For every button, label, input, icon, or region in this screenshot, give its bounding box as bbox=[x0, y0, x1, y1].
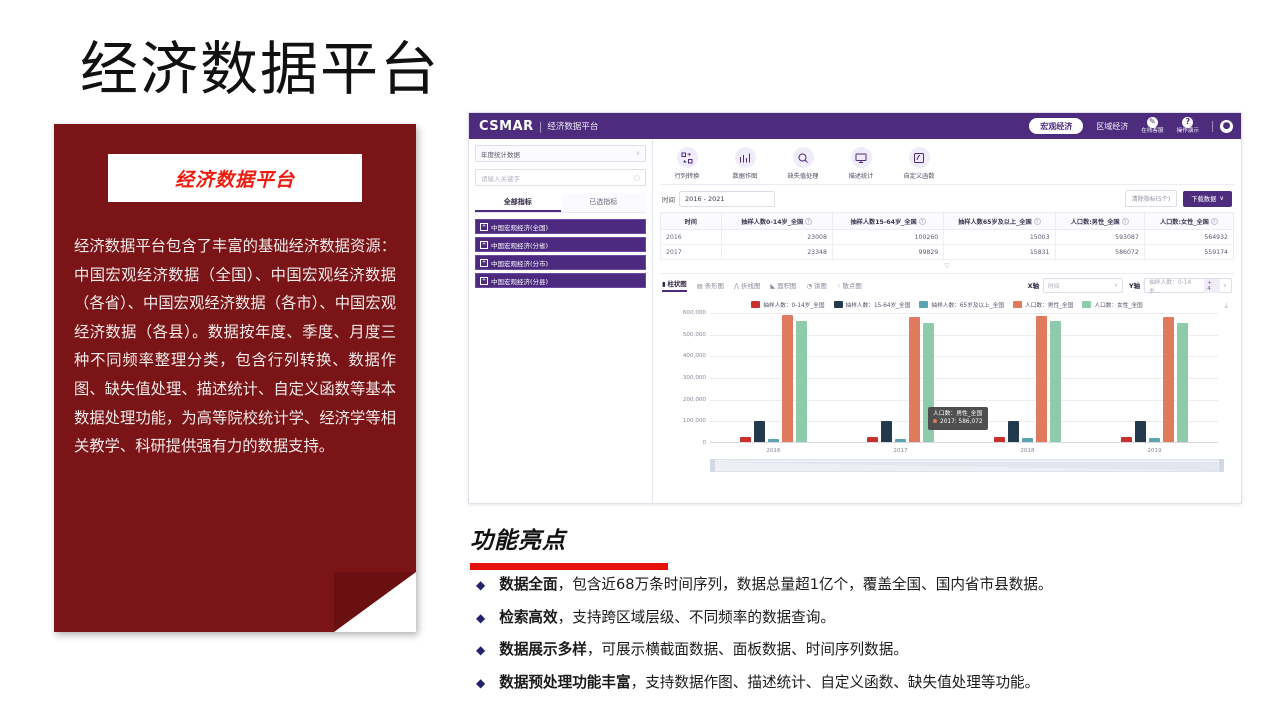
x-tick: 2016 bbox=[710, 448, 837, 454]
legend-label: 人口数：男性_全国 bbox=[1025, 300, 1073, 309]
bar[interactable] bbox=[740, 437, 751, 442]
col-label: 抽样人数15-64岁_全国 bbox=[850, 219, 916, 226]
col-sample-15-64[interactable]: 抽样人数15-64岁_全国? bbox=[832, 213, 943, 230]
y-tick: 400,000 bbox=[666, 353, 706, 359]
tooltip-value: 2017: 586,072 bbox=[940, 419, 983, 425]
tab-all-indicators[interactable]: 全部指标 bbox=[475, 193, 561, 212]
bar-chart-plot: 0 100,000 200,000 300,000 400,000 500,00… bbox=[666, 311, 1224, 443]
brand-logo: CSMAR bbox=[479, 119, 534, 134]
legend-swatch bbox=[834, 301, 843, 308]
demo-icon: ? bbox=[1182, 117, 1193, 128]
chart-datazoom-slider[interactable] bbox=[710, 459, 1224, 472]
help-icon[interactable]: ? bbox=[805, 218, 812, 225]
chevron-down-icon: ∨ bbox=[1219, 195, 1224, 202]
y-tick: 300,000 bbox=[666, 375, 706, 381]
app-window: CSMAR | 经济数据平台 宏观经济 区域经济 ✎ 在线客服 ? 操作演示 ●… bbox=[468, 112, 1242, 504]
chart-icon bbox=[735, 147, 756, 168]
legend-item[interactable]: 抽样人数：15-64岁_全国 bbox=[834, 300, 911, 309]
bar[interactable] bbox=[867, 437, 878, 442]
legend-label: 抽样人数：15-64岁_全国 bbox=[846, 300, 911, 309]
area-chart-icon: ◣ bbox=[770, 282, 775, 290]
table-row: 2017 23348 99829 15831 586072 559174 bbox=[661, 245, 1234, 260]
feature-strong: 数据全面 bbox=[499, 576, 557, 593]
col-label: 人口数:男性_全国 bbox=[1071, 219, 1120, 226]
cell: 15003 bbox=[944, 230, 1055, 245]
bar[interactable] bbox=[1177, 323, 1188, 442]
expand-icon: + bbox=[480, 241, 488, 249]
nav-regional-economy[interactable]: 区域经济 bbox=[1096, 121, 1128, 132]
col-label: 人口数:女性_全国 bbox=[1160, 219, 1209, 226]
tab-label: 饼图 bbox=[814, 281, 827, 290]
content-area: 行列转换 数据作图 bbox=[653, 139, 1241, 503]
col-label: 抽样人数65岁及以上_全国 bbox=[958, 219, 1032, 226]
bar[interactable] bbox=[1036, 316, 1047, 442]
tree-item-label: 中国宏观经济(分省) bbox=[491, 240, 548, 250]
feature-text: 数据展示多样，可展示横截面数据、面板数据、时间序列数据。 bbox=[499, 641, 908, 659]
tab-bar-chart[interactable]: ▮柱状图 bbox=[662, 279, 687, 292]
feature-item: ◆数据展示多样，可展示横截面数据、面板数据、时间序列数据。 bbox=[476, 641, 1136, 659]
frequency-select-value: 年度统计数据 bbox=[481, 149, 520, 159]
help-icon[interactable]: ? bbox=[1122, 218, 1129, 225]
bullet-diamond-icon: ◆ bbox=[476, 677, 485, 689]
tab-label: 散点图 bbox=[843, 281, 862, 290]
expand-icon: + bbox=[480, 259, 488, 267]
filter-bar: 时间 2016 - 2021 清除指标(5个) 下载数据 ∨ bbox=[660, 185, 1234, 212]
x-axis-line bbox=[710, 442, 1218, 443]
feature-strong: 数据预处理功能丰富 bbox=[499, 674, 630, 691]
tab-label: 折线图 bbox=[741, 281, 760, 290]
y-axis-label: Y轴 bbox=[1129, 281, 1140, 290]
data-table: 时间 抽样人数0-14岁_全国? 抽样人数15-64岁_全国? 抽样人数65岁及… bbox=[660, 212, 1234, 260]
y-axis-value: 抽样人数：0-14岁... bbox=[1149, 277, 1201, 295]
legend-swatch bbox=[1082, 301, 1091, 308]
x-tick: 2019 bbox=[1091, 448, 1218, 454]
features-underline bbox=[470, 563, 668, 570]
cell: 586072 bbox=[1055, 245, 1144, 260]
demo-button[interactable]: ? 操作演示 bbox=[1177, 117, 1199, 135]
time-label: 时间 bbox=[662, 194, 675, 204]
legend-item[interactable]: 人口数：男性_全国 bbox=[1013, 300, 1073, 309]
describe-stats-icon bbox=[851, 147, 872, 168]
y-axis-more-badge: + 4 bbox=[1204, 279, 1219, 293]
legend-item[interactable]: 抽样人数：65岁及以上_全国 bbox=[919, 300, 1004, 309]
tab-label: 柱状图 bbox=[668, 279, 687, 288]
indicator-tabs: 全部指标 已选指标 bbox=[475, 193, 646, 213]
hbar-chart-icon: ▤ bbox=[697, 282, 703, 290]
cell: 15831 bbox=[944, 245, 1055, 260]
chart-type-tabs: ▮柱状图 ▤条形图 ⋀折线图 ◣面积图 ◔饼图 ⁖散点图 X轴 时间 ∨ Y轴 … bbox=[660, 273, 1234, 297]
legend-swatch bbox=[919, 301, 928, 308]
online-service-button[interactable]: ✎ 在线客服 bbox=[1141, 117, 1163, 135]
bar[interactable] bbox=[1121, 437, 1132, 442]
cell: 99829 bbox=[832, 245, 943, 260]
chart-legend: 抽样人数：0-14岁_全国 抽样人数：15-64岁_全国 抽样人数：65岁及以上… bbox=[660, 297, 1234, 311]
tab-area-chart[interactable]: ◣面积图 bbox=[770, 281, 796, 290]
scatter-chart-icon: ⁖ bbox=[837, 282, 841, 290]
y-tick: 500,000 bbox=[666, 332, 706, 338]
download-data-label: 下载数据 bbox=[1191, 194, 1216, 203]
expand-icon: + bbox=[480, 277, 488, 285]
help-icon[interactable]: ? bbox=[1211, 218, 1218, 225]
tool-label: 行列转换 bbox=[675, 171, 700, 180]
x-axis-select[interactable]: 时间 ∨ bbox=[1043, 278, 1123, 293]
tab-label: 面积图 bbox=[777, 281, 796, 290]
tool-label: 描述统计 bbox=[849, 171, 874, 180]
tooltip-point: 2017: 586,072 bbox=[933, 418, 983, 426]
legend-label: 抽样人数：0-14岁_全国 bbox=[763, 300, 824, 309]
expand-icon: + bbox=[480, 223, 488, 231]
panel-fold-mask bbox=[334, 572, 416, 632]
datazoom-handle-right[interactable] bbox=[1219, 459, 1224, 472]
y-axis-select[interactable]: 抽样人数：0-14岁... + 4 ∨ bbox=[1144, 278, 1232, 293]
online-service-icon: ✎ bbox=[1147, 117, 1158, 128]
col-sample-0-14[interactable]: 抽样人数0-14岁_全国? bbox=[721, 213, 832, 230]
slide-root: 经济数据平台 经济数据平台 经济数据平台包含了丰富的基础经济数据资源：中国宏观经… bbox=[0, 0, 1280, 720]
clear-indicators-button[interactable]: 清除指标(5个) bbox=[1125, 190, 1178, 207]
legend-label: 抽样人数：65岁及以上_全国 bbox=[931, 300, 1004, 309]
brand-subtitle: 经济数据平台 bbox=[547, 120, 598, 132]
col-time[interactable]: 时间 bbox=[661, 213, 722, 230]
legend-item[interactable]: 抽样人数：0-14岁_全国 bbox=[751, 300, 824, 309]
page-title: 经济数据平台 bbox=[80, 38, 440, 102]
brand-divider: | bbox=[539, 120, 543, 133]
col-sample-65-up[interactable]: 抽样人数65岁及以上_全国? bbox=[944, 213, 1055, 230]
y-tick: 600,000 bbox=[666, 310, 706, 316]
feature-toolbar: 行列转换 数据作图 bbox=[660, 144, 1234, 185]
bar-group bbox=[710, 313, 837, 442]
cell: 100260 bbox=[832, 230, 943, 245]
legend-label: 人口数：女性_全国 bbox=[1094, 300, 1142, 309]
bar-chart-icon: ▮ bbox=[662, 280, 666, 288]
bar[interactable] bbox=[1149, 438, 1160, 442]
demo-label: 操作演示 bbox=[1177, 129, 1199, 135]
app-header: CSMAR | 经济数据平台 宏观经济 区域经济 ✎ 在线客服 ? 操作演示 ● bbox=[469, 113, 1241, 139]
bullet-diamond-icon: ◆ bbox=[476, 612, 485, 624]
tab-line-chart[interactable]: ⋀折线图 bbox=[734, 281, 760, 290]
tool-label: 自定义函数 bbox=[904, 171, 935, 180]
feature-text: 数据全面，包含近68万条时间序列，数据总量超1亿个，覆盖全国、国内省市县数据。 bbox=[499, 576, 1052, 594]
legend-swatch bbox=[1013, 301, 1022, 308]
table-expand-toggle[interactable]: ▽ bbox=[660, 260, 1234, 273]
search-input[interactable]: 请输入关键字 ○ bbox=[475, 169, 646, 186]
x-axis-label: X轴 bbox=[1028, 281, 1039, 290]
pie-chart-icon: ◔ bbox=[806, 282, 812, 290]
panel-label-box: 经济数据平台 bbox=[108, 154, 362, 202]
col-label: 时间 bbox=[685, 219, 697, 226]
frequency-select[interactable]: 年度统计数据 ∨ bbox=[475, 145, 646, 162]
tool-label: 缺失值处理 bbox=[788, 171, 819, 180]
bar[interactable] bbox=[768, 439, 779, 442]
bar[interactable] bbox=[796, 321, 807, 442]
features-title: 功能亮点 bbox=[470, 521, 566, 555]
tab-hbar-chart[interactable]: ▤条形图 bbox=[697, 281, 724, 290]
header-separator bbox=[1212, 121, 1213, 132]
cell: 564932 bbox=[1144, 230, 1233, 245]
tool-describe-stats[interactable]: 描述统计 bbox=[840, 147, 882, 180]
cell: 2017 bbox=[661, 245, 722, 260]
time-range-input[interactable]: 2016 - 2021 bbox=[679, 191, 775, 207]
chevron-down-icon: ∨ bbox=[1114, 283, 1118, 289]
feature-item: ◆数据预处理功能丰富，支持数据作图、描述统计、自定义函数、缺失值处理等功能。 bbox=[476, 674, 1136, 692]
custom-function-icon bbox=[909, 147, 930, 168]
missing-value-icon bbox=[793, 147, 814, 168]
transpose-icon bbox=[677, 147, 698, 168]
bar[interactable] bbox=[895, 439, 906, 442]
tree-item-national[interactable]: + 中国宏观经济(全国) bbox=[475, 219, 646, 234]
datazoom-handle-left[interactable] bbox=[710, 459, 715, 472]
x-tick: 2017 bbox=[837, 448, 964, 454]
tree-item-county[interactable]: + 中国宏观经济(分县) bbox=[475, 273, 646, 288]
tree-item-province[interactable]: + 中国宏观经济(分省) bbox=[475, 237, 646, 252]
cell: 23008 bbox=[721, 230, 832, 245]
bar[interactable] bbox=[909, 317, 920, 442]
x-tick: 2018 bbox=[964, 448, 1091, 454]
col-pop-male[interactable]: 人口数:男性_全国? bbox=[1055, 213, 1144, 230]
tab-pie-chart[interactable]: ◔饼图 bbox=[806, 281, 826, 290]
tool-missing-value[interactable]: 缺失值处理 bbox=[782, 147, 824, 180]
feature-strong: 数据展示多样 bbox=[499, 641, 587, 658]
chart-export-icon[interactable]: ⤓ bbox=[1224, 301, 1228, 311]
sidebar: 年度统计数据 ∨ 请输入关键字 ○ 全部指标 已选指标 + 中国宏观经济(全国)… bbox=[469, 139, 653, 503]
bar[interactable] bbox=[994, 437, 1005, 442]
bar-group bbox=[1091, 313, 1218, 442]
tool-custom-function[interactable]: 自定义函数 bbox=[898, 147, 940, 180]
tool-transpose[interactable]: 行列转换 bbox=[666, 147, 708, 180]
cell: 23348 bbox=[721, 245, 832, 260]
tree-item-label: 中国宏观经济(全国) bbox=[491, 222, 548, 232]
line-chart-icon: ⋀ bbox=[734, 282, 739, 290]
panel-label-text: 经济数据平台 bbox=[175, 165, 295, 192]
bullet-diamond-icon: ◆ bbox=[476, 644, 485, 656]
tab-selected-indicators[interactable]: 已选指标 bbox=[561, 193, 647, 212]
help-icon[interactable]: ? bbox=[1034, 218, 1041, 225]
chevron-down-icon: ∨ bbox=[636, 150, 640, 157]
y-tick: 200,000 bbox=[666, 397, 706, 403]
search-placeholder: 请输入关键字 bbox=[481, 173, 520, 183]
features-list: ◆数据全面，包含近68万条时间序列，数据总量超1亿个，覆盖全国、国内省市县数据。… bbox=[476, 576, 1136, 707]
download-data-button[interactable]: 下载数据 ∨ bbox=[1183, 191, 1232, 207]
legend-swatch bbox=[751, 301, 760, 308]
datazoom-preview bbox=[716, 462, 1218, 471]
table-header-row: 时间 抽样人数0-14岁_全国? 抽样人数15-64岁_全国? 抽样人数65岁及… bbox=[661, 213, 1234, 230]
table-row: 2016 23008 100260 15003 593087 564932 bbox=[661, 230, 1234, 245]
bar[interactable] bbox=[1135, 421, 1146, 442]
tree-item-label: 中国宏观经济(分市) bbox=[491, 258, 548, 268]
tooltip-series: 人口数：男性_全国 bbox=[933, 410, 983, 418]
tool-chart[interactable]: 数据作图 bbox=[724, 147, 766, 180]
bullet-diamond-icon: ◆ bbox=[476, 579, 485, 591]
tree-item-label: 中国宏观经济(分县) bbox=[491, 276, 548, 286]
x-tick-labels: 2016 2017 2018 2019 bbox=[710, 448, 1218, 454]
y-tick: 0 bbox=[666, 440, 706, 446]
chart-tooltip: 人口数：男性_全国 2017: 586,072 bbox=[928, 407, 988, 430]
bar[interactable] bbox=[1022, 438, 1033, 442]
search-icon: ○ bbox=[634, 174, 640, 182]
tooltip-dot-icon bbox=[933, 419, 937, 423]
feature-text: 数据预处理功能丰富，支持数据作图、描述统计、自定义函数、缺失值处理等功能。 bbox=[499, 674, 1039, 692]
tool-label: 数据作图 bbox=[733, 171, 758, 180]
bar[interactable] bbox=[1008, 421, 1019, 442]
feature-text: 检索高效，支持跨区域层级、不同频率的数据查询。 bbox=[499, 609, 835, 627]
online-service-label: 在线客服 bbox=[1141, 129, 1163, 135]
tree-item-city[interactable]: + 中国宏观经济(分市) bbox=[475, 255, 646, 270]
cell: 559174 bbox=[1144, 245, 1233, 260]
nav-macro-economy[interactable]: 宏观经济 bbox=[1029, 118, 1083, 134]
tab-label: 条形图 bbox=[705, 281, 724, 290]
col-label: 抽样人数0-14岁_全国 bbox=[741, 219, 803, 226]
chevron-down-icon: ∨ bbox=[1223, 283, 1227, 289]
feature-item: ◆检索高效，支持跨区域层级、不同频率的数据查询。 bbox=[476, 609, 1136, 627]
bar[interactable] bbox=[1163, 317, 1174, 442]
help-icon[interactable]: ? bbox=[919, 218, 926, 225]
bar[interactable] bbox=[881, 421, 892, 442]
panel-body-text: 经济数据平台包含了丰富的基础经济数据资源：中国宏观经济数据（全国）、中国宏观经济… bbox=[74, 232, 396, 461]
app-body: 年度统计数据 ∨ 请输入关键字 ○ 全部指标 已选指标 + 中国宏观经济(全国)… bbox=[469, 139, 1241, 503]
y-tick: 100,000 bbox=[666, 418, 706, 424]
legend-item[interactable]: 人口数：女性_全国 bbox=[1082, 300, 1142, 309]
tab-scatter-chart[interactable]: ⁖散点图 bbox=[837, 281, 862, 290]
bar[interactable] bbox=[1050, 321, 1061, 442]
feature-item: ◆数据全面，包含近68万条时间序列，数据总量超1亿个，覆盖全国、国内省市县数据。 bbox=[476, 576, 1136, 594]
col-pop-female[interactable]: 人口数:女性_全国? bbox=[1144, 213, 1233, 230]
bar[interactable] bbox=[782, 315, 793, 442]
cell: 2016 bbox=[661, 230, 722, 245]
avatar[interactable]: ● bbox=[1220, 120, 1233, 133]
feature-strong: 检索高效 bbox=[499, 609, 557, 626]
bar[interactable] bbox=[754, 421, 765, 442]
cell: 593087 bbox=[1055, 230, 1144, 245]
x-axis-value: 时间 bbox=[1048, 281, 1060, 290]
